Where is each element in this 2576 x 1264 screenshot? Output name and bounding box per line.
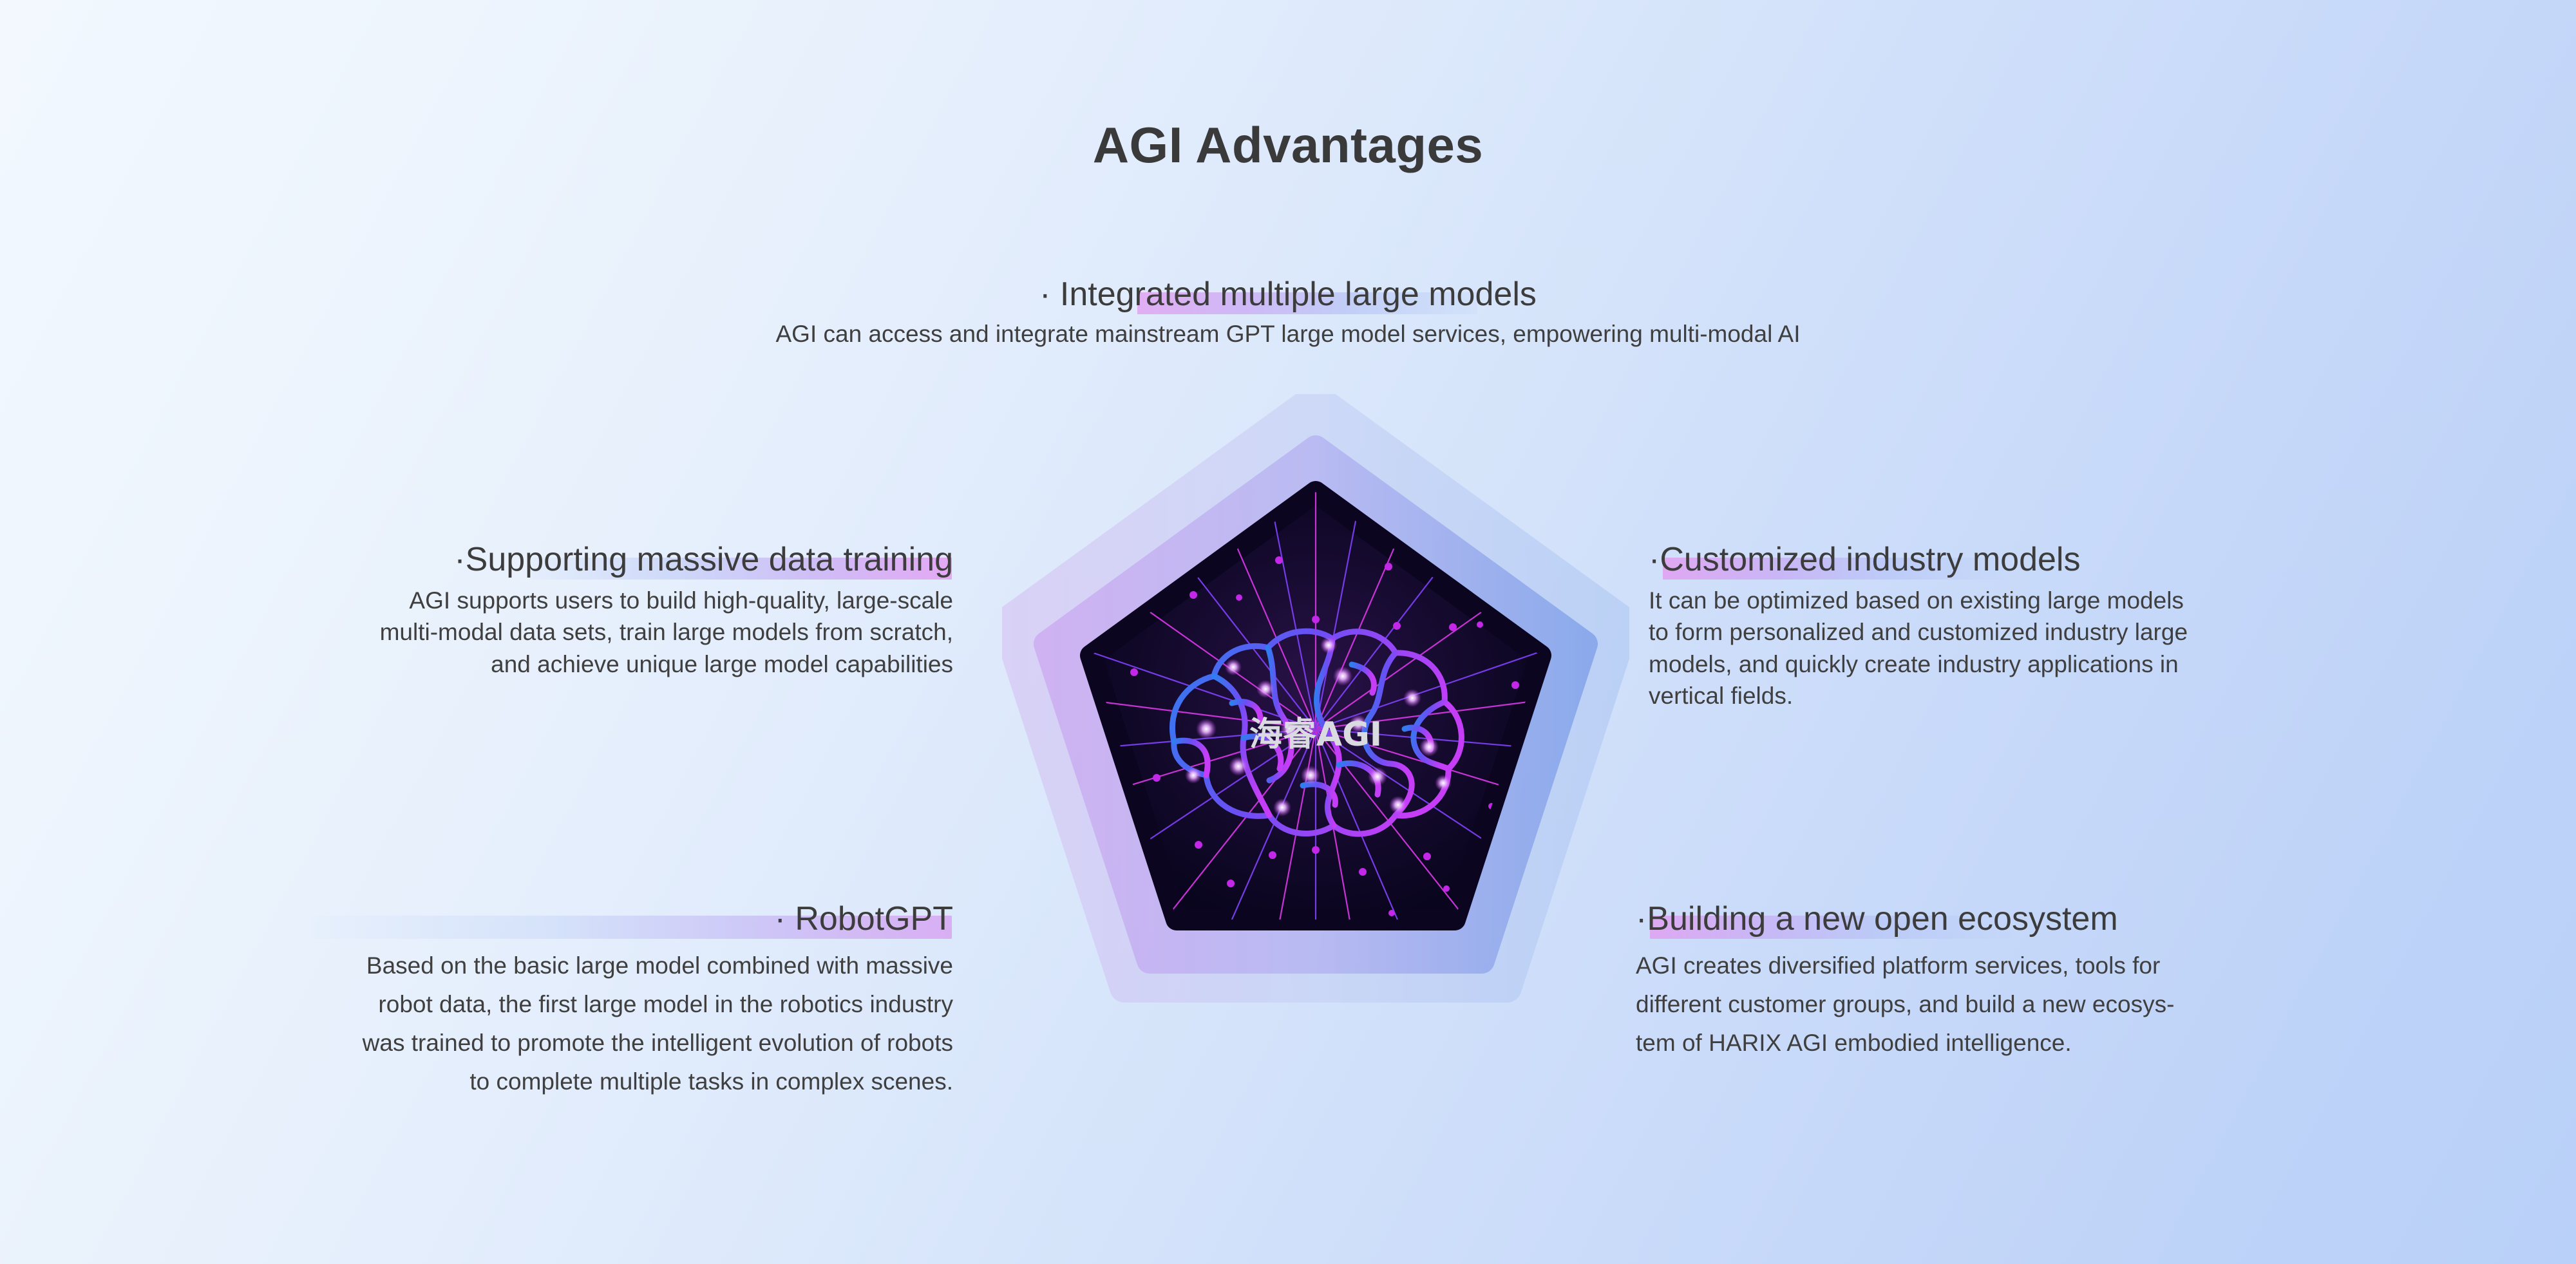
description-line: tem of HARIX AGI embodied intelligence. <box>1636 1024 2550 1062</box>
bullet-dot: · <box>1039 276 1050 313</box>
advantage-description: It can be optimized based on existing la… <box>1649 585 2550 712</box>
description-line: AGI can access and integrate mainstream … <box>0 318 2576 350</box>
advantage-integrated-multiple-large-models[interactable]: · Integrated multiple large models AGI c… <box>0 276 2576 350</box>
advantage-description: AGI can access and integrate mainstream … <box>0 318 2576 350</box>
advantage-description: AGI supports users to build high-quality… <box>26 585 953 680</box>
description-line: robot data, the first large model in the… <box>26 985 953 1024</box>
bullet-dot: · <box>454 541 465 578</box>
page-title: AGI Advantages <box>0 116 2576 175</box>
description-line: AGI supports users to build high-quality… <box>26 585 953 616</box>
description-line: Based on the basic large model combined … <box>26 947 953 985</box>
advantage-supporting-massive-data-training[interactable]: ·Supporting massive data training AGI su… <box>26 541 953 680</box>
description-line: multi-modal data sets, train large model… <box>26 616 953 648</box>
heading-text: Building a new open ecosystem <box>1647 900 2117 938</box>
advantage-heading: · Integrated multiple large models <box>1039 276 1537 313</box>
advantage-heading: · RobotGPT <box>775 900 953 938</box>
center-label: 海睿AGI <box>1249 715 1382 754</box>
advantage-heading: ·Supporting massive data training <box>454 541 953 578</box>
heading-text: Customized industry models <box>1660 541 2080 578</box>
agi-center-graphic: 海睿AGI <box>1002 394 1629 1109</box>
description-line: different customer groups, and build a n… <box>1636 985 2550 1024</box>
advantage-description: AGI creates diversified platform service… <box>1636 947 2550 1062</box>
heading-text: RobotGPT <box>795 900 953 938</box>
description-line: was trained to promote the intelligent e… <box>26 1024 953 1062</box>
description-line: and achieve unique large model capabilit… <box>26 648 953 680</box>
heading-text: Supporting massive data training <box>466 541 953 578</box>
description-line: models, and quickly create industry appl… <box>1649 648 2550 680</box>
advantage-description: Based on the basic large model combined … <box>26 947 953 1101</box>
heading-text: Integrated multiple large models <box>1060 276 1537 313</box>
description-line: to complete multiple tasks in complex sc… <box>26 1062 953 1101</box>
description-line: It can be optimized based on existing la… <box>1649 585 2550 616</box>
advantage-robotgpt[interactable]: · RobotGPT Based on the basic large mode… <box>26 900 953 1101</box>
bullet-dot: · <box>1649 541 1660 578</box>
description-line: AGI creates diversified platform service… <box>1636 947 2550 985</box>
advantage-heading: ·Customized industry models <box>1649 541 2080 578</box>
bullet-dot: · <box>1636 900 1647 938</box>
advantage-building-a-new-open-ecosystem[interactable]: ·Building a new open ecosystem AGI creat… <box>1636 900 2550 1062</box>
description-line: to form personalized and customized indu… <box>1649 616 2550 648</box>
bullet-dot: · <box>775 900 786 938</box>
advantage-customized-industry-models[interactable]: ·Customized industry models It can be op… <box>1649 541 2550 712</box>
advantage-heading: ·Building a new open ecosystem <box>1636 900 2118 938</box>
pentagon-brain-illustration: 海睿AGI <box>1002 394 1629 1109</box>
description-line: vertical fields. <box>1649 680 2550 712</box>
